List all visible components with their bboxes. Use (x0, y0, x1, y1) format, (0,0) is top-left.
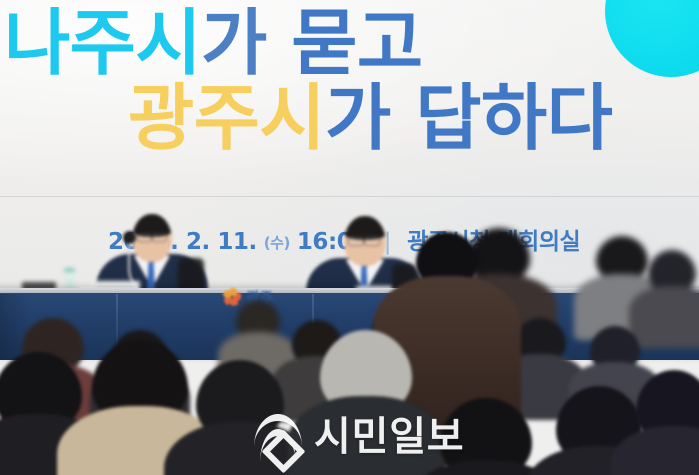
simin-ilbo-logo-icon (252, 412, 304, 462)
watermark: 시민일보 (252, 412, 464, 462)
list-item (514, 318, 566, 364)
audience (0, 0, 699, 475)
audience-body (629, 286, 699, 348)
list-item (92, 340, 188, 426)
list-item (236, 300, 280, 340)
list-item (596, 236, 648, 282)
list-item (320, 330, 412, 416)
list-item (648, 250, 696, 294)
list-item (416, 232, 478, 288)
watermark-text: 시민일보 (314, 417, 464, 457)
list-item (590, 326, 640, 372)
news-photo: 나주시가 묻고 광주시가 답하다 2026. 2. 11. (수) 16:00 … (0, 0, 699, 475)
